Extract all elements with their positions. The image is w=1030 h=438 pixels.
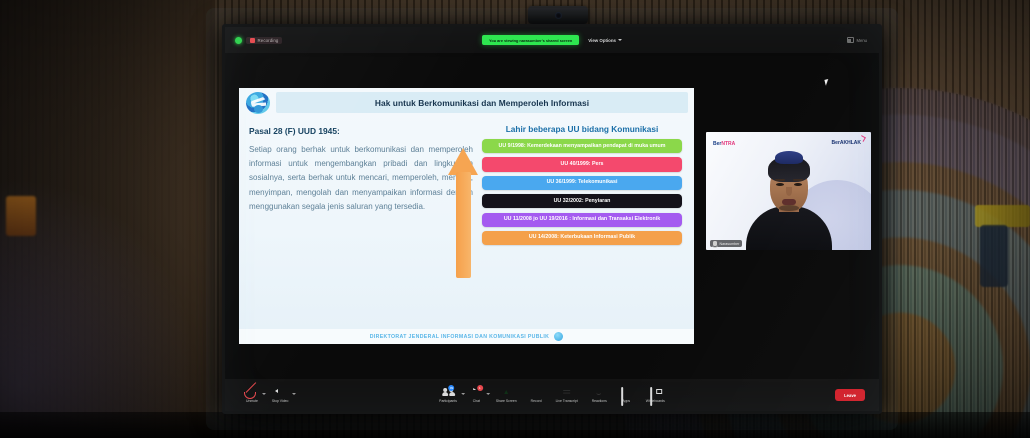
reactions-icon [594, 388, 605, 397]
slide-footer: DIREKTORAT JENDERAL INFORMASI DAN KOMUNI… [239, 329, 694, 344]
leave-meeting-button[interactable]: Leave [835, 389, 865, 401]
recording-indicator[interactable]: Recording [246, 37, 282, 44]
slide-left-body: Setiap orang berhak untuk berkomunikasi … [249, 143, 473, 214]
participant-person [746, 146, 832, 250]
chevron-up-icon[interactable] [292, 393, 296, 395]
menu-label: Menu [857, 38, 867, 43]
whiteboard-icon [650, 388, 661, 397]
recording-status: Recording [235, 37, 282, 44]
slide-title-bar: Hak untuk Berkomunikasi dan Memperoleh I… [276, 92, 688, 113]
slide-left-column: Pasal 28 (F) UUD 1945: Setiap orang berh… [249, 126, 473, 214]
chat-icon: 1 [471, 388, 482, 397]
toolbar-button-chat[interactable]: 1Chat [464, 388, 489, 403]
slide-header: Hak untuk Berkomunikasi dan Memperoleh I… [239, 88, 694, 118]
toolbar-badge: 1 [477, 385, 483, 391]
arrow-head [448, 148, 478, 175]
toolbar-button-unmute[interactable]: Unmute [239, 388, 265, 403]
apps-icon [621, 388, 632, 397]
toolbar-label: Chat [473, 399, 480, 403]
view-options-button[interactable]: View Options [588, 38, 622, 43]
person-nose [786, 187, 792, 196]
zoom-meeting-window: Recording You are viewing narasumber's s… [225, 27, 879, 411]
shared-screen-banner-group: You are viewing narasumber's shared scre… [482, 35, 622, 45]
law-box-3: UU 32/2002: Penyiaran [482, 194, 682, 208]
menu-icon [847, 37, 854, 43]
brand-left-accent: NTRA [721, 141, 735, 147]
participant-video-tile[interactable]: BerNTRA BerAKHLAK Narasumber [706, 132, 871, 250]
law-list: UU 9/1998: Kemerdekaan menyampaikan pend… [482, 139, 682, 245]
participant-name-badge: Narasumber [710, 240, 742, 247]
background-brand-left: BerNTRA [713, 141, 735, 147]
view-options-label: View Options [588, 38, 616, 43]
toolbar-button-share-screen[interactable]: Share Screen [489, 388, 524, 403]
slide-right-heading: Lahir beberapa UU bidang Komunikasi [482, 124, 682, 134]
shared-presentation-slide: Hak untuk Berkomunikasi dan Memperoleh I… [239, 88, 694, 344]
slide-footer-dot-icon [554, 332, 563, 341]
law-box-4: UU 11/2008 jo UU 19/2016 : Informasi dan… [482, 213, 682, 227]
television-display: Recording You are viewing narasumber's s… [222, 24, 882, 414]
person-torso [746, 206, 832, 250]
toolbar-button-participants[interactable]: 99Participants [432, 388, 464, 403]
slide-left-heading: Pasal 28 (F) UUD 1945: [249, 126, 473, 136]
slide-right-column: Lahir beberapa UU bidang Komunikasi UU 9… [482, 124, 682, 249]
orange-arrow-icon [448, 148, 478, 278]
toolbar-label: Stop Video [272, 399, 289, 403]
background-brand-right: BerAKHLAK [832, 140, 861, 146]
shared-screen-banner: You are viewing narasumber's shared scre… [482, 35, 579, 45]
camera-icon [275, 388, 286, 397]
record-icon [531, 388, 542, 397]
microphone-muted-icon [246, 388, 257, 397]
connection-status-icon [235, 37, 242, 44]
toolbar-label: Live Transcript [556, 399, 578, 403]
toolbar-button-reactions[interactable]: Reactions [585, 388, 614, 403]
share-screen-icon [501, 388, 512, 397]
toolbar-left-group: UnmuteStop Video [239, 388, 295, 403]
toolbar-button-whiteboards[interactable]: Whiteboards [639, 388, 672, 403]
toolbar-badge: 99 [449, 385, 455, 391]
person-beard [779, 205, 799, 211]
kominfo-logo-icon [246, 92, 270, 114]
record-stop-icon [250, 38, 255, 43]
toolbar-button-record[interactable]: Record [524, 388, 549, 403]
zoom-top-bar: Recording You are viewing narasumber's s… [225, 27, 879, 53]
microphone-icon [713, 241, 717, 246]
arrow-shaft [456, 172, 471, 278]
slide-footer-text: DIREKTORAT JENDERAL INFORMASI DAN KOMUNI… [370, 334, 550, 340]
toolbar-button-live-transcript[interactable]: Live Transcript [549, 388, 585, 403]
chevron-down-icon [618, 39, 622, 41]
menu-button[interactable]: Menu [847, 37, 867, 43]
zoom-bottom-toolbar: UnmuteStop Video 99Participants1ChatShar… [225, 379, 879, 411]
participant-name-label: Narasumber [720, 242, 740, 246]
law-box-5: UU 14/2008: Keterbukaan Informasi Publik [482, 231, 682, 245]
recording-label: Recording [258, 38, 279, 43]
toolbar-label: Share Screen [496, 399, 517, 403]
toolbar-label: Whiteboards [646, 399, 665, 403]
closed-caption-icon [561, 388, 572, 397]
person-cap [775, 151, 803, 164]
law-box-0: UU 9/1998: Kemerdekaan menyampaikan pend… [482, 139, 682, 153]
mouse-cursor [824, 78, 832, 86]
toolbar-label: Record [531, 399, 542, 403]
toolbar-label: Reactions [592, 399, 607, 403]
law-box-2: UU 36/1999: Telekomunikasi [482, 176, 682, 190]
people-icon: 99 [443, 388, 454, 397]
toolbar-label: Participants [439, 399, 457, 403]
slide-title: Hak untuk Berkomunikasi dan Memperoleh I… [375, 98, 589, 108]
toolbar-label: Unmute [246, 399, 258, 403]
toolbar-center-group: 99Participants1ChatShare ScreenRecordLiv… [432, 388, 672, 403]
webcam-device [528, 6, 588, 24]
toolbar-label: Apps [622, 399, 630, 403]
law-box-1: UU 40/1999: Pers [482, 157, 682, 171]
toolbar-button-apps[interactable]: Apps [614, 388, 639, 403]
toolbar-button-stop-video[interactable]: Stop Video [265, 388, 296, 403]
